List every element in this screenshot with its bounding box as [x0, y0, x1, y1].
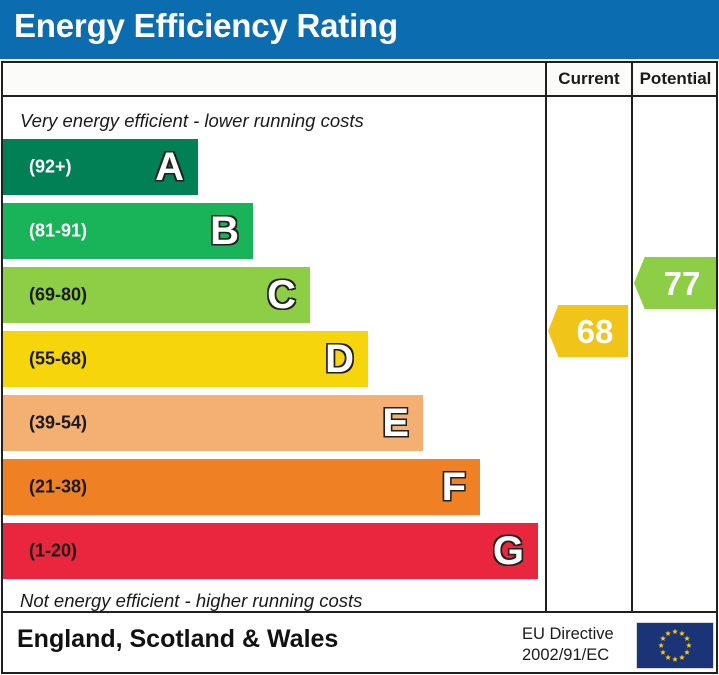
caption-bottom: Not energy efficient - higher running co…: [20, 590, 362, 612]
band-a-range: (92+): [29, 157, 72, 178]
band-e-letter: E: [382, 403, 409, 443]
column-header-potential: Potential: [633, 69, 718, 89]
band-d-range: (55-68): [29, 349, 87, 370]
chart-frame: Current Potential Very energy efficient …: [1, 61, 718, 613]
potential-rating-marker: 77: [634, 257, 716, 309]
band-b-range: (81-91): [29, 221, 87, 242]
column-divider-current: [545, 63, 547, 611]
footer-bar: England, Scotland & Wales EU Directive 2…: [1, 613, 718, 674]
band-d: (55-68) D: [3, 331, 368, 387]
band-f: (21-38) F: [3, 459, 480, 515]
band-c-letter: C: [267, 275, 296, 315]
footer-directive-line1: EU Directive: [522, 624, 614, 645]
band-d-letter: D: [325, 339, 354, 379]
title-bar: Energy Efficiency Rating: [0, 0, 719, 59]
band-g-letter: G: [493, 531, 524, 571]
column-divider-potential: [631, 63, 633, 611]
band-b: (81-91) B: [3, 203, 253, 259]
band-b-letter: B: [210, 211, 239, 251]
footer-directive-line2: 2002/91/EC: [522, 645, 614, 666]
potential-rating-value: 77: [650, 267, 701, 300]
band-f-range: (21-38): [29, 477, 87, 498]
eu-flag-stars: [637, 623, 713, 668]
band-a-letter: A: [155, 147, 184, 187]
band-c-range: (69-80): [29, 285, 87, 306]
band-e: (39-54) E: [3, 395, 423, 451]
band-a: (92+) A: [3, 139, 198, 195]
band-g: (1-20) G: [3, 523, 538, 579]
band-e-range: (39-54): [29, 413, 87, 434]
current-rating-value: 68: [563, 315, 614, 348]
caption-top: Very energy efficient - lower running co…: [20, 110, 364, 132]
eu-flag-icon: [636, 622, 714, 669]
column-header-current: Current: [547, 69, 631, 89]
page-title: Energy Efficiency Rating: [14, 7, 398, 45]
band-f-letter: F: [442, 467, 466, 507]
band-c: (69-80) C: [3, 267, 310, 323]
footer-region-label: England, Scotland & Wales: [17, 625, 338, 654]
current-rating-marker: 68: [548, 305, 628, 357]
footer-directive: EU Directive 2002/91/EC: [522, 624, 614, 666]
band-g-range: (1-20): [29, 541, 77, 562]
epc-rating-chart: Energy Efficiency Rating Current Potenti…: [0, 0, 719, 675]
